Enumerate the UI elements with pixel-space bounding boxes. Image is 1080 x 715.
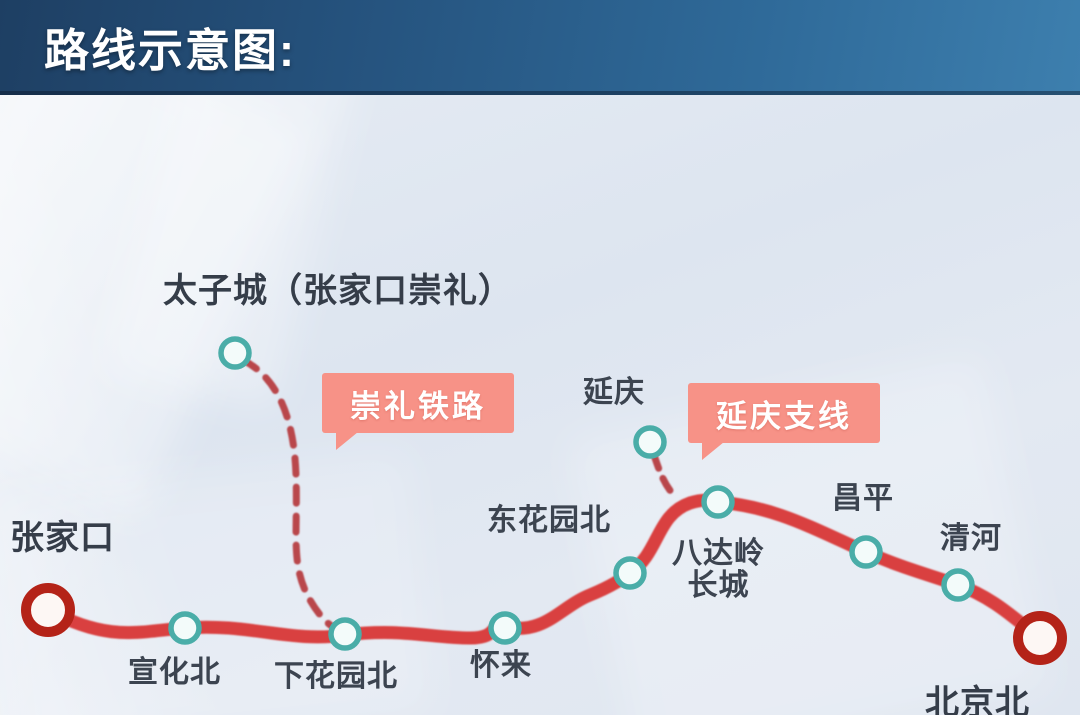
station-dot-badaling[interactable]	[704, 488, 732, 516]
station-dot-zhangjiakou[interactable]	[26, 588, 70, 632]
station-label-xuanhua-bei: 宣化北	[128, 657, 221, 689]
yanqing-branch-line	[654, 455, 672, 493]
callout-tail	[702, 442, 724, 460]
route-map-page: 路线示意图: 张家口宣化北下花园北怀来东花园北八达岭长城昌平清河北京北延庆太子城…	[0, 0, 1080, 715]
station-label-qinghe: 清河	[940, 523, 1002, 555]
callout-label: 崇礼铁路	[350, 381, 486, 426]
station-label-zhangjiakou: 张家口	[10, 520, 115, 556]
station-dot-yanqing[interactable]	[636, 428, 664, 456]
page-title: 路线示意图:	[44, 14, 296, 79]
station-label-taizicheng: 太子城（张家口崇礼）	[163, 273, 513, 309]
station-dot-taizicheng[interactable]	[221, 339, 249, 367]
station-dot-xuanhua-bei[interactable]	[171, 614, 199, 642]
station-label-huailai: 怀来	[470, 650, 532, 682]
header-banner: 路线示意图:	[0, 0, 1080, 95]
callout-label: 延庆支线	[716, 391, 852, 436]
station-dot-qinghe[interactable]	[944, 571, 972, 599]
station-label-changping: 昌平	[832, 483, 894, 515]
station-dot-beijing-bei[interactable]	[1018, 616, 1062, 660]
map-canvas: 张家口宣化北下花园北怀来东花园北八达岭长城昌平清河北京北延庆太子城（张家口崇礼）…	[0, 95, 1080, 715]
station-label-yanqing: 延庆	[583, 377, 645, 409]
station-dot-xiahuayuan-bei[interactable]	[331, 620, 359, 648]
callout-tail	[336, 432, 358, 450]
station-label-donghuayuan-bei: 东花园北	[487, 505, 611, 537]
station-dot-donghuayuan-bei[interactable]	[616, 559, 644, 587]
station-label-xiahuayuan-bei: 下花园北	[274, 661, 398, 693]
callout-chongli-railway: 崇礼铁路	[322, 373, 514, 433]
station-label-badaling: 八达岭长城	[672, 538, 765, 602]
station-dot-huailai[interactable]	[491, 614, 519, 642]
callout-yanqing-branch: 延庆支线	[688, 383, 880, 443]
rail-lines	[0, 95, 1080, 715]
station-dot-changping[interactable]	[852, 538, 880, 566]
station-label-beijing-bei: 北京北	[925, 685, 1030, 715]
